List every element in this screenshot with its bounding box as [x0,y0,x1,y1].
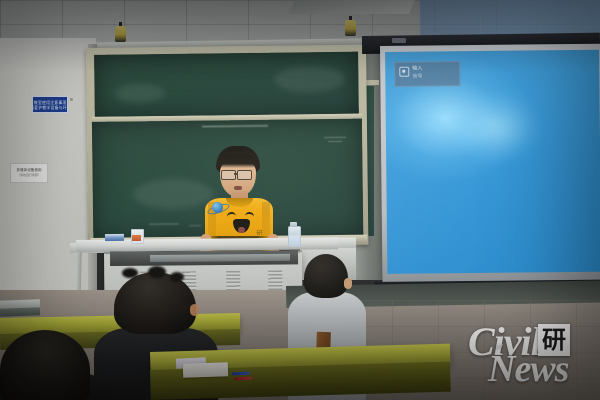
glasses-lens-right-icon [237,170,252,180]
chalk-line [324,137,346,138]
watermark: Civil 研 BY News [466,322,600,394]
audience-head [114,272,196,334]
presenter-mouth [234,186,242,190]
projector-osd-line1: 输入 [412,66,422,72]
audience-head [304,254,348,298]
hair-wisp [170,272,184,282]
projector-osd-line2: 信号 [412,74,422,80]
blue-book [105,234,124,241]
watermark-line2: News [488,350,568,388]
wall-notice-blue-line2: 请爱护教学设备与环境 [32,105,68,110]
projector-screen-pull-tab[interactable] [392,38,406,43]
water-bottle-cap [290,222,297,227]
presenter-fringe [217,154,259,168]
wall-notice-blue: 教室使用注意事项 请爱护教学设备与环境 [32,96,68,113]
chalk-smudge [114,84,164,103]
wall-notice-white: 多媒体设备使用 （请勿自行拆卸） [10,163,48,183]
input-source-icon [399,67,409,77]
ceiling-spotlight-left-icon [115,26,126,42]
chalk-line [328,141,342,142]
glasses-lens-left-icon [221,170,236,180]
chalk-smudge [274,66,344,93]
ceiling-spotlight-right-icon [345,20,356,36]
wall-notice-blue-line1: 教室使用注意事项 [34,100,67,105]
water-bottle [288,226,301,247]
audience-ear [344,278,352,289]
side-table-edge [0,307,40,316]
hair-wisp [122,268,138,278]
chalk-line [202,125,268,127]
projector-hotspot-glow [450,92,541,163]
shirt-laughing-face-graphic [226,210,256,234]
chalk-line [149,223,179,225]
shirt-planet-icon [212,202,223,213]
projector-osd-text: 输入 信号 [412,66,422,80]
projector-osd-box: 输入 信号 [394,61,460,87]
classroom-photo: 教室使用注意事项 请爱护教学设备与环境 多媒体设备使用 （请勿自行拆卸） [0,0,600,400]
shirt-tongue-icon [238,227,245,233]
wall-screw-dot [70,98,73,101]
audience-ear [190,304,199,316]
blackboard-upper-panel [94,52,359,117]
notebook-paper [183,362,228,378]
plastic-cup-contents [132,235,141,241]
ceiling-vent [289,0,415,14]
wall-notice-white-line2: （请勿自行拆卸） [17,173,41,178]
hair-wisp [148,266,166,278]
projector-screen: 输入 信号 [380,44,600,284]
console-control-strip[interactable] [150,254,290,262]
audience-far-left-head [0,330,90,400]
glasses-bridge-icon [234,173,238,175]
